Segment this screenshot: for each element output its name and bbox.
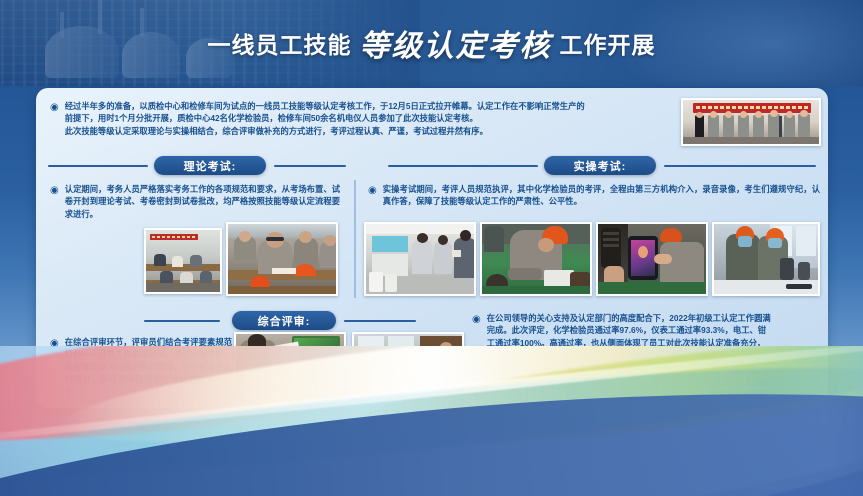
poster-root: 一线员工技能 等级认定考核 工作开展 ◉ 经过半年多的准备，以质检中心和检修车间… xyxy=(0,0,863,496)
column-divider xyxy=(354,180,356,298)
heading-practical-exam: 实操考试: xyxy=(544,156,656,175)
theory-body-text: 认定期间，考务人员严格落实考务工作的各项规范和要求，从考场布置、试卷开封到理论考… xyxy=(65,183,340,220)
photo-exam-candidates-writing xyxy=(226,222,338,296)
photo-machining-operation xyxy=(712,222,820,296)
heading-comprehensive-review: 综合评审: xyxy=(232,311,336,330)
poster-title: 一线员工技能 等级认定考核 工作开展 xyxy=(0,0,863,86)
intro-line-2: 前提下，用时1个月分批开展，质检中心42名化学检验员，检修车间50余名机电仪人员… xyxy=(65,112,585,124)
bullet-icon: ◉ xyxy=(50,100,65,137)
intro-line-3: 此次技能等级认定采取理论与实操相结合，综合评审做补充的方式进行，考评过程认真、严… xyxy=(65,125,585,137)
poster-header: 一线员工技能 等级认定考核 工作开展 xyxy=(0,0,863,86)
practical-body-text: 实操考试期间，考评人员规范执评，其中化学检验员的考评，全程由第三方机构介入，录音… xyxy=(383,183,820,208)
photo-workshop-equipment-repair xyxy=(480,222,592,296)
rule-practical-right xyxy=(664,165,816,167)
rule-practical-left xyxy=(388,165,538,167)
intro-line-1: 经过半年多的准备，以质检中心和检修车间为试点的一线员工技能等级认定考核工作，于1… xyxy=(65,100,585,112)
results-p1-line-1: 在公司领导的关心支持及认定部门的高度配合下，2022年初级工认定工作圆满 xyxy=(487,312,771,324)
rule-review-right xyxy=(344,320,416,322)
photo-lab-chemical-testing xyxy=(364,222,476,296)
heading-theory-label: 理论考试: xyxy=(184,158,237,174)
title-part-1: 一线员工技能 xyxy=(208,26,352,60)
photo-video-recording-evaluation xyxy=(596,222,708,296)
photo-exam-hall-wide xyxy=(144,228,222,294)
rule-theory-left xyxy=(48,165,148,167)
title-part-3: 工作开展 xyxy=(560,26,656,60)
title-part-2: 等级认定考核 xyxy=(352,21,560,65)
bullet-icon: ◉ xyxy=(368,183,383,208)
practical-paragraph: ◉ 实操考试期间，考评人员规范执评，其中化学检验员的考评，全程由第三方机构介入，… xyxy=(368,183,820,208)
rule-review-left xyxy=(144,320,220,322)
decorative-ribbons xyxy=(0,346,863,496)
rule-theory-right xyxy=(274,165,346,167)
intro-paragraph: ◉ 经过半年多的准备，以质检中心和检修车间为试点的一线员工技能等级认定考核工作，… xyxy=(50,100,690,137)
results-p1-line-2: 完成。此次评定，化学检验员通过率97.6%，仪表工通过率93.3%，电工、钳 xyxy=(487,324,771,336)
heading-practical-label: 实操考试: xyxy=(574,158,627,174)
bullet-icon: ◉ xyxy=(50,183,65,220)
heading-theory-exam: 理论考试: xyxy=(154,156,266,175)
photo-group-ceremony xyxy=(681,98,821,146)
heading-review-label: 综合评审: xyxy=(258,313,311,329)
theory-paragraph: ◉ 认定期间，考务人员严格落实考务工作的各项规范和要求，从考场布置、试卷开封到理… xyxy=(50,183,340,220)
